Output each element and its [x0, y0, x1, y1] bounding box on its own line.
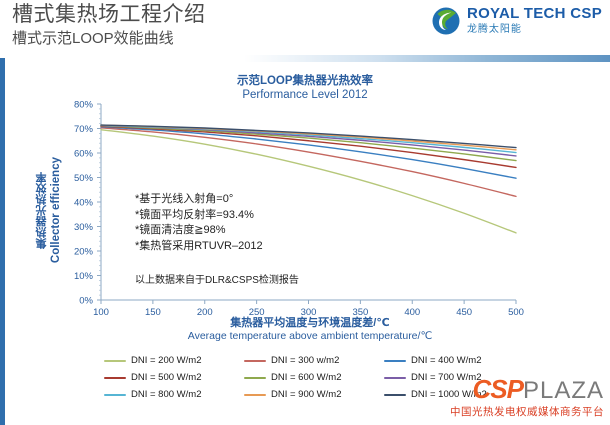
annotation-line: *镜面平均反射率=93.4%: [135, 208, 299, 224]
legend-item[interactable]: DNI = 500 W/m2: [104, 372, 244, 383]
legend-label: DNI = 600 W/m2: [271, 372, 341, 383]
x-axis-title-en: Average temperature above ambient temper…: [90, 330, 530, 343]
legend-color-swatch: [244, 377, 266, 379]
y-axis-tick-labels: 0%10%20%30%40%50%60%70%80%: [74, 100, 94, 307]
legend-color-swatch: [244, 360, 266, 362]
legend-color-swatch: [384, 377, 406, 379]
watermark-tagline: 中国光热发电权威媒体商务平台: [450, 404, 604, 419]
y-tick-label: 10%: [74, 271, 94, 282]
legend-color-swatch: [384, 394, 406, 396]
legend-label: DNI = 500 W/m2: [131, 372, 201, 383]
annotation-line: *基于光线入射角=0°: [135, 192, 299, 208]
y-tick-label: 70%: [74, 124, 94, 135]
legend-item[interactable]: DNI = 300 w/m2: [244, 355, 384, 366]
y-tick-label: 60%: [74, 149, 94, 160]
y-tick-label: 80%: [74, 100, 94, 111]
legend-item[interactable]: DNI = 200 W/m2: [104, 355, 244, 366]
annotation-source: 以上数据来自于DLR&CSPS检测报告: [135, 271, 299, 286]
legend-color-swatch: [104, 377, 126, 379]
x-axis-title: 集热器平均温度与环境温度差/℃ Average temperature abov…: [90, 316, 530, 343]
watermark-csp: CSP: [473, 374, 523, 405]
y-axis-title-en: Collector efficiency: [50, 157, 62, 263]
legend-item[interactable]: DNI = 800 W/m2: [104, 389, 244, 400]
legend-label: DNI = 400 W/m2: [411, 355, 481, 366]
legend-color-swatch: [384, 360, 406, 362]
y-axis-title: 集热器光热效率 Collector efficiency: [30, 120, 66, 300]
y-axis-title-cn: 集热器光热效率: [34, 172, 50, 249]
y-tick-label: 20%: [74, 247, 94, 258]
legend-label: DNI = 800 W/m2: [131, 389, 201, 400]
legend-item[interactable]: DNI = 600 W/m2: [244, 372, 384, 383]
legend-label: DNI = 200 W/m2: [131, 355, 201, 366]
y-tick-label: 0%: [79, 296, 93, 307]
legend-color-swatch: [104, 394, 126, 396]
csp-plaza-watermark: CSP PLAZA 中国光热发电权威媒体商务平台: [450, 374, 604, 419]
annotation-line: *镜面清洁度≧98%: [135, 223, 299, 239]
chart-annotation: *基于光线入射角=0° *镜面平均反射率=93.4% *镜面清洁度≧98% *集…: [135, 192, 299, 286]
x-axis-title-cn: 集热器平均温度与环境温度差/℃: [90, 316, 530, 330]
legend-label: DNI = 300 w/m2: [271, 355, 339, 366]
watermark-row: CSP PLAZA: [450, 374, 604, 405]
watermark-plaza: PLAZA: [523, 377, 604, 405]
legend-color-swatch: [244, 394, 266, 396]
annotation-line: *集热管采用RTUVR–2012: [135, 239, 299, 255]
y-tick-label: 50%: [74, 173, 94, 184]
legend-color-swatch: [104, 360, 126, 362]
y-tick-label: 30%: [74, 222, 94, 233]
legend-item[interactable]: DNI = 900 W/m2: [244, 389, 384, 400]
legend-item[interactable]: DNI = 400 W/m2: [384, 355, 524, 366]
y-tick-label: 40%: [74, 198, 94, 209]
legend-label: DNI = 900 W/m2: [271, 389, 341, 400]
